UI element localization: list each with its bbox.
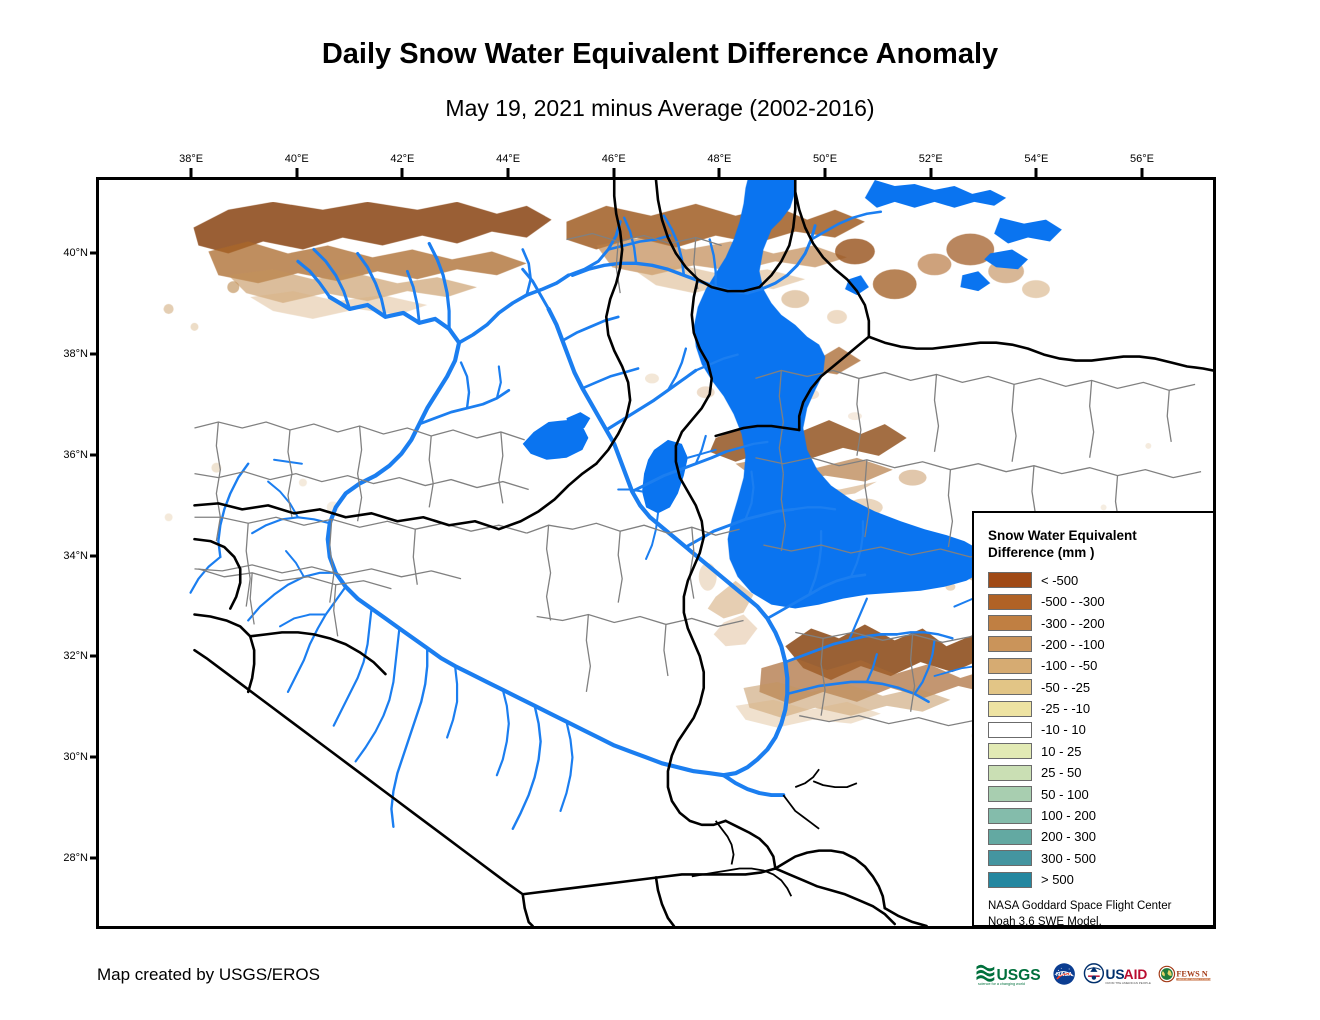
- longitude-tick-label: 54°E: [1024, 153, 1048, 165]
- legend-label: -500 - -300: [1041, 594, 1105, 609]
- legend-row: -500 - -300: [988, 591, 1202, 612]
- legend-row: 300 - 500: [988, 848, 1202, 869]
- longitude-tick-mark: [1035, 168, 1038, 177]
- usaid-logo[interactable]: US AID FROM THE AMERICAN PEOPLE: [1083, 959, 1153, 989]
- legend-swatch: [988, 808, 1032, 824]
- legend-swatch: [988, 636, 1032, 652]
- longitude-tick-mark: [507, 168, 510, 177]
- legend-label: 300 - 500: [1041, 851, 1096, 866]
- latitude-tick-mark: [90, 857, 99, 860]
- longitude-tick-label: 44°E: [496, 153, 520, 165]
- agency-logos: USGS science for a changing world NASA U…: [975, 956, 1215, 992]
- legend-row: < -500: [988, 570, 1202, 591]
- legend-row: 10 - 25: [988, 741, 1202, 762]
- legend-label: 100 - 200: [1041, 808, 1096, 823]
- legend-swatch: [988, 743, 1032, 759]
- legend-row: -300 - -200: [988, 612, 1202, 633]
- svg-text:US: US: [1105, 967, 1124, 982]
- legend-swatch: [988, 872, 1032, 888]
- longitude-tick-mark: [401, 168, 404, 177]
- latitude-tick-mark: [90, 655, 99, 658]
- legend-row: -25 - -10: [988, 698, 1202, 719]
- svg-text:NASA: NASA: [1056, 972, 1072, 978]
- latitude-tick-mark: [90, 554, 99, 557]
- legend-swatch: [988, 786, 1032, 802]
- legend-label: -10 - 10: [1041, 722, 1086, 737]
- legend-swatch: [988, 701, 1032, 717]
- latitude-tick-label: 36°N: [44, 449, 88, 461]
- legend-label: 50 - 100: [1041, 787, 1089, 802]
- legend-row: -50 - -25: [988, 676, 1202, 697]
- legend-swatch: [988, 572, 1032, 588]
- longitude-tick-label: 56°E: [1130, 153, 1154, 165]
- nasa-logo[interactable]: NASA: [1052, 959, 1076, 989]
- legend-row: > 500: [988, 869, 1202, 890]
- longitude-tick-label: 40°E: [285, 153, 309, 165]
- legend-label: < -500: [1041, 573, 1078, 588]
- latitude-tick-mark: [90, 352, 99, 355]
- svg-text:AID: AID: [1123, 967, 1147, 982]
- page-subtitle: May 19, 2021 minus Average (2002-2016): [0, 95, 1320, 122]
- latitude-tick-label: 28°N: [44, 852, 88, 864]
- longitude-tick-mark: [190, 168, 193, 177]
- map-frame[interactable]: Snow Water Equivalent Difference (mm ) <…: [96, 177, 1216, 929]
- longitude-tick-mark: [718, 168, 721, 177]
- usgs-logo[interactable]: USGS science for a changing world: [975, 959, 1046, 989]
- legend-swatch: [988, 594, 1032, 610]
- longitude-tick-mark: [1141, 168, 1144, 177]
- fewsnet-logo[interactable]: FEWS N FAMINE EARLY WARNING SYSTEMS NETW…: [1158, 959, 1215, 989]
- map-legend: Snow Water Equivalent Difference (mm ) <…: [972, 511, 1216, 927]
- longitude-tick-mark: [929, 168, 932, 177]
- legend-row: 200 - 300: [988, 826, 1202, 847]
- legend-class-list: < -500-500 - -300-300 - -200-200 - -100-…: [988, 570, 1202, 891]
- legend-row: 100 - 200: [988, 805, 1202, 826]
- longitude-tick-label: 48°E: [707, 153, 731, 165]
- legend-swatch: [988, 679, 1032, 695]
- legend-row: -200 - -100: [988, 634, 1202, 655]
- svg-text:USGS: USGS: [997, 967, 1041, 984]
- page-title: Daily Snow Water Equivalent Difference A…: [0, 38, 1320, 71]
- latitude-tick-mark: [90, 453, 99, 456]
- latitude-tick-mark: [90, 251, 99, 254]
- legend-source-note: NASA Goddard Space Flight Center Noah 3.…: [988, 899, 1202, 929]
- legend-swatch: [988, 658, 1032, 674]
- longitude-tick-label: 52°E: [919, 153, 943, 165]
- svg-text:FAMINE EARLY WARNING SYSTEMS N: FAMINE EARLY WARNING SYSTEMS NETWORK: [1178, 978, 1215, 981]
- legend-label: 25 - 50: [1041, 765, 1081, 780]
- legend-label: -200 - -100: [1041, 637, 1105, 652]
- legend-swatch: [988, 829, 1032, 845]
- legend-row: -100 - -50: [988, 655, 1202, 676]
- latitude-tick-mark: [90, 756, 99, 759]
- legend-label: -100 - -50: [1041, 658, 1097, 673]
- latitude-tick-label: 38°N: [44, 348, 88, 360]
- legend-swatch: [988, 722, 1032, 738]
- legend-label: 10 - 25: [1041, 744, 1081, 759]
- legend-swatch: [988, 765, 1032, 781]
- svg-text:FEWS N: FEWS N: [1177, 969, 1208, 978]
- coastline-layer: [692, 769, 857, 896]
- legend-title: Snow Water Equivalent Difference (mm ): [988, 527, 1202, 562]
- svg-text:FROM THE AMERICAN PEOPLE: FROM THE AMERICAN PEOPLE: [1105, 981, 1150, 985]
- longitude-tick-label: 50°E: [813, 153, 837, 165]
- latitude-tick-label: 34°N: [44, 550, 88, 562]
- latitude-tick-label: 32°N: [44, 650, 88, 662]
- legend-label: -50 - -25: [1041, 680, 1090, 695]
- legend-label: 200 - 300: [1041, 829, 1096, 844]
- latitude-tick-label: 30°N: [44, 751, 88, 763]
- longitude-tick-mark: [612, 168, 615, 177]
- longitude-tick-label: 38°E: [179, 153, 203, 165]
- map-credit: Map created by USGS/EROS: [97, 965, 320, 985]
- svg-text:science for a changing world: science for a changing world: [978, 982, 1025, 986]
- longitude-tick-label: 46°E: [602, 153, 626, 165]
- legend-label: -300 - -200: [1041, 616, 1105, 631]
- legend-swatch: [988, 615, 1032, 631]
- longitude-tick-mark: [824, 168, 827, 177]
- legend-label: -25 - -10: [1041, 701, 1090, 716]
- longitude-tick-label: 42°E: [390, 153, 414, 165]
- legend-swatch: [988, 850, 1032, 866]
- legend-label: > 500: [1041, 872, 1074, 887]
- longitude-tick-mark: [295, 168, 298, 177]
- legend-row: 50 - 100: [988, 783, 1202, 804]
- latitude-tick-label: 40°N: [44, 247, 88, 259]
- legend-row: -10 - 10: [988, 719, 1202, 740]
- legend-row: 25 - 50: [988, 762, 1202, 783]
